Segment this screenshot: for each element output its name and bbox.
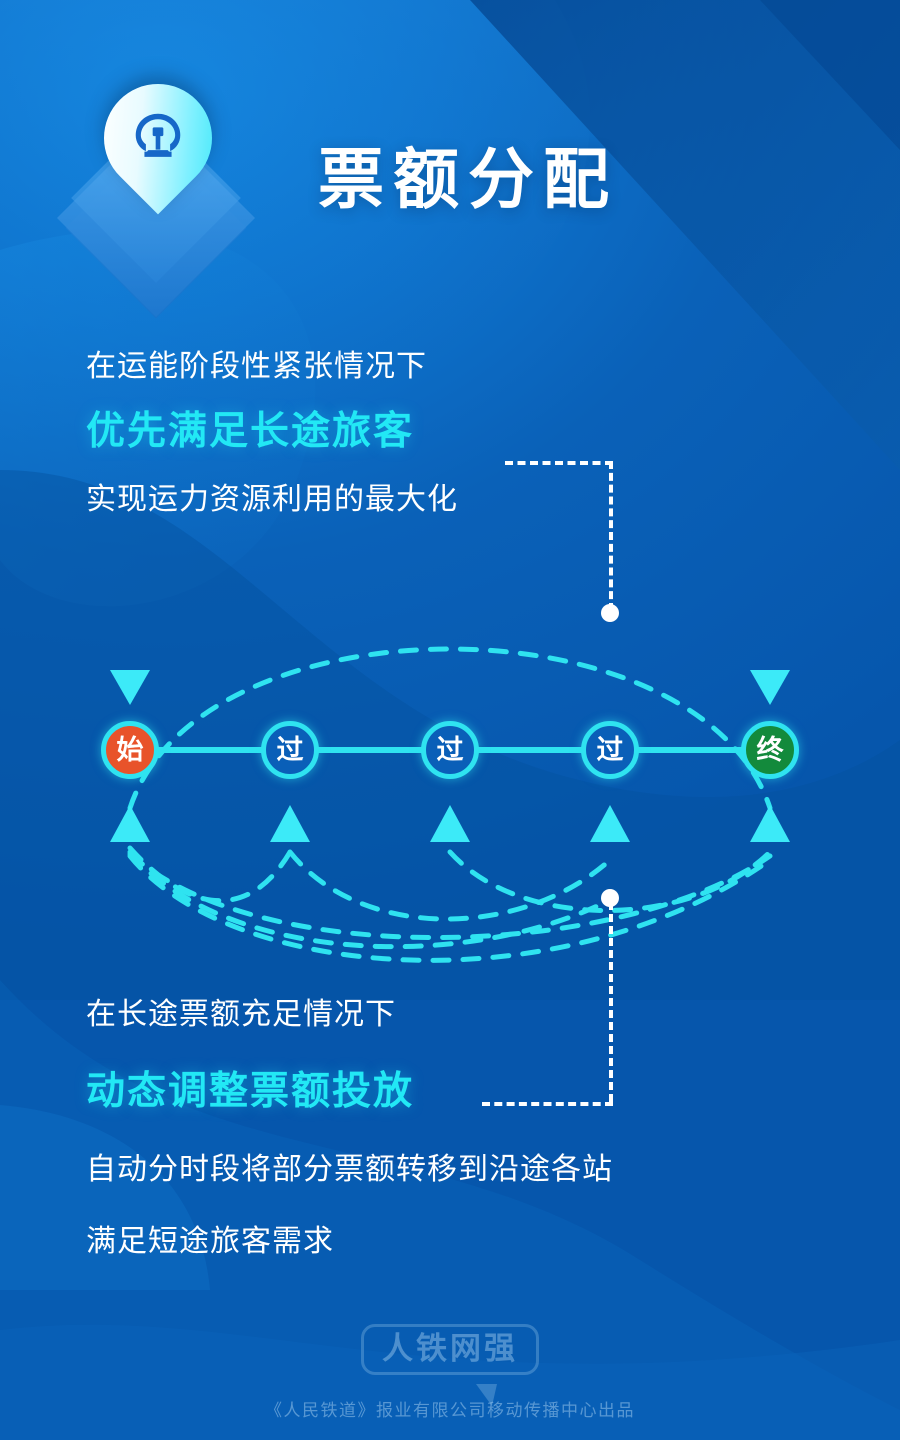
lower-text-block: 在长途票额充足情况下 动态调整票额投放 自动分时段将部分票额转移到沿途各站 满足… — [86, 1000, 613, 1299]
station-label: 过 — [277, 737, 304, 764]
upper-line-highlight: 优先满足长途旅客 — [86, 412, 458, 451]
map-pin-shape — [82, 62, 235, 215]
arrow-up-icon — [590, 805, 630, 842]
lower-line-4: 满足短途旅客需求 — [86, 1227, 613, 1257]
upper-text-block: 在运能阶段性紧张情况下 优先满足长途旅客 实现运力资源利用的最大化 — [86, 352, 458, 545]
upper-connector-horizontal — [505, 461, 613, 465]
station-label: 过 — [437, 737, 464, 764]
china-railway-logo-icon — [127, 107, 189, 169]
station-end[interactable]: 终 — [741, 721, 799, 779]
lower-line-3: 自动分时段将部分票额转移到沿途各站 — [86, 1155, 613, 1185]
pin-inner — [104, 84, 212, 192]
station-start[interactable]: 始 — [101, 721, 159, 779]
upper-arc-dot — [601, 604, 619, 622]
footer-caption: 《人民铁道》报业有限公司移动传播中心出品 — [0, 1396, 900, 1421]
station-label: 终 — [757, 737, 784, 764]
arrow-down-icon — [750, 670, 790, 705]
station-label: 始 — [117, 737, 144, 764]
upper-line-1: 在运能阶段性紧张情况下 — [86, 352, 458, 382]
station-diagram: 始 过 过 过 终 — [0, 560, 900, 980]
station-pass-2[interactable]: 过 — [421, 721, 479, 779]
railway-pin-icon — [52, 78, 262, 248]
arrow-down-icon — [110, 670, 150, 705]
station-pass-1[interactable]: 过 — [261, 721, 319, 779]
page-title: 票额分配 — [318, 146, 618, 212]
arrow-up-icon — [750, 805, 790, 842]
upper-line-3: 实现运力资源利用的最大化 — [86, 485, 458, 515]
arrow-up-icon — [110, 805, 150, 842]
watermark-logo: 人铁网强 — [361, 1324, 539, 1375]
station-label: 过 — [597, 737, 624, 764]
arrow-up-icon — [430, 805, 470, 842]
poster-root: 票额分配 在运能阶段性紧张情况下 优先满足长途旅客 实现运力资源利用的最大化 — [0, 0, 900, 1440]
station-pass-3[interactable]: 过 — [581, 721, 639, 779]
lower-line-highlight: 动态调整票额投放 — [86, 1072, 613, 1111]
header: 票额分配 — [0, 0, 900, 300]
lower-line-1: 在长途票额充足情况下 — [86, 1000, 613, 1030]
arrow-up-icon — [270, 805, 310, 842]
footer: 人铁网强 《人民铁道》报业有限公司移动传播中心出品 — [0, 1310, 900, 1440]
